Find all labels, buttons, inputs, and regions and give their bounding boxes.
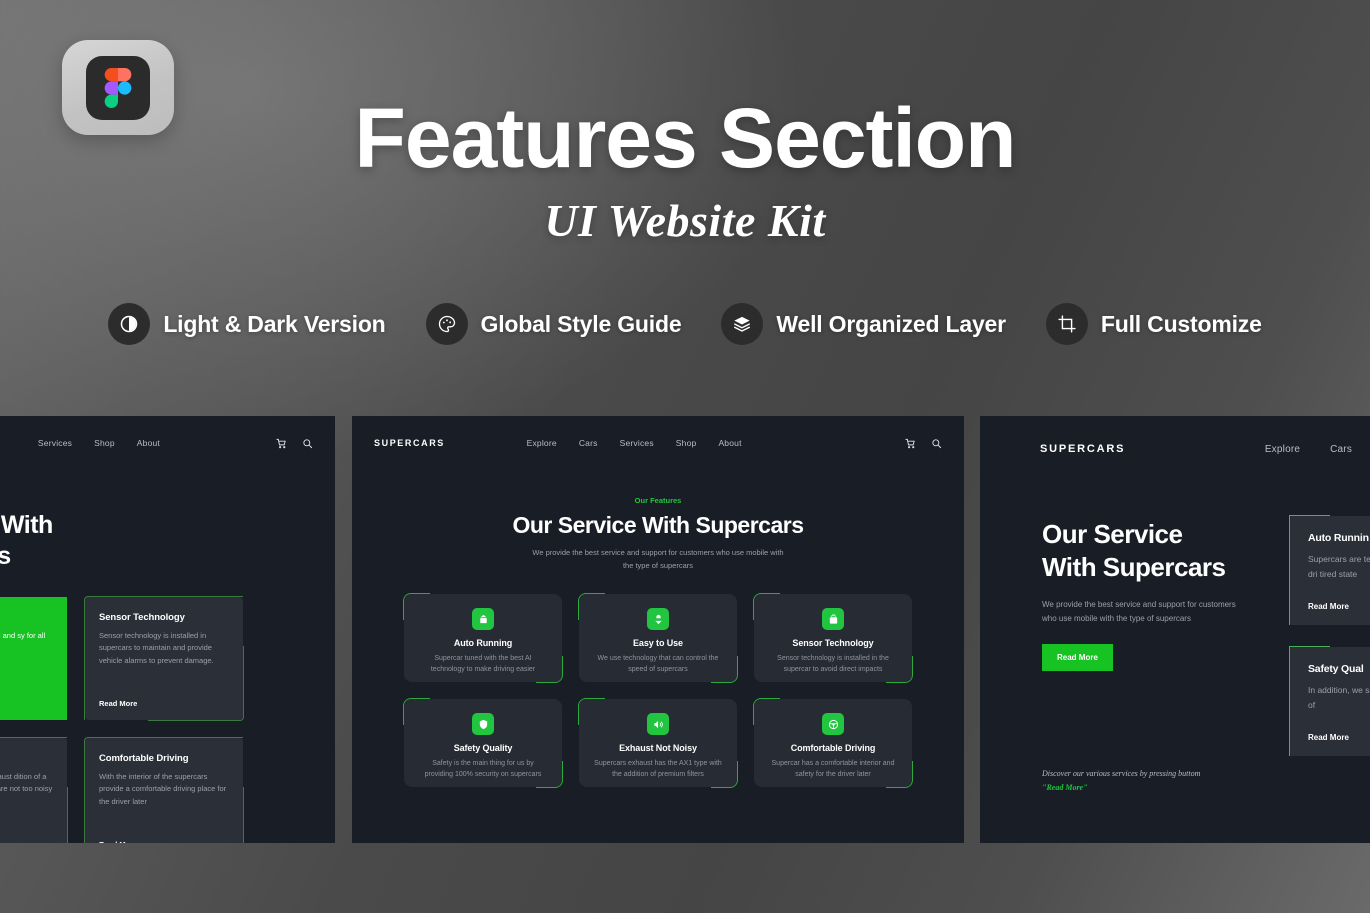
shopping-cart-glyph <box>276 438 287 449</box>
nav-link-services[interactable]: Services <box>38 438 72 448</box>
nav-link-shop[interactable]: Shop <box>676 438 697 448</box>
preview-panels: SUPERCARS Services Shop About <box>0 416 1370 843</box>
color-palette-glyph <box>437 314 457 334</box>
center-panel-navbar: SUPERCARS Explore Cars Services Shop Abo… <box>352 424 964 462</box>
right-panel-cards: Auto Runnin Supercars are technology to … <box>1290 516 1370 778</box>
feature-card-exhaust-not-noisy[interactable]: Exhaust Not Noisy Supercars exhaust has … <box>579 699 737 787</box>
feature-badge-layers: Well Organized Layer <box>721 303 1005 345</box>
left-panel-navbar: SUPERCARS Services Shop About <box>0 424 335 462</box>
search-glyph <box>931 438 942 449</box>
card-title: Not Noisy <box>0 753 53 764</box>
read-more-link[interactable]: Read More <box>1308 602 1370 611</box>
note-line-1: Discover our various services by pressin… <box>1042 769 1200 778</box>
section-title: Our Service With Supercars <box>352 512 964 539</box>
feature-badges-row: Light & Dark Version Global Style Guide <box>0 303 1370 345</box>
card-title: Comfortable Driving <box>768 743 898 753</box>
page-title: Features Section <box>0 96 1370 180</box>
nav-link-about[interactable]: About <box>137 438 160 448</box>
nav-links: Services Shop About <box>38 438 160 448</box>
preview-panel-left: SUPERCARS Services Shop About <box>0 416 335 843</box>
nav-link-about[interactable]: About <box>718 438 741 448</box>
read-more-button[interactable]: Read More <box>1042 644 1113 671</box>
card-title: Exhaust Not Noisy <box>593 743 723 753</box>
card-title: Comfortable Driving <box>99 753 229 764</box>
left-feature-card[interactable]: Sensor Technology Sensor technology is i… <box>85 597 243 720</box>
left-feature-card[interactable]: Comfortable Driving With the interior of… <box>85 738 243 843</box>
nav-actions <box>276 438 313 449</box>
search-icon[interactable] <box>302 438 313 449</box>
crop-tool-icon <box>1046 303 1088 345</box>
easy-to-use-icon <box>647 608 669 630</box>
card-title: Safety Quality <box>418 743 548 753</box>
right-panel-navbar: SUPERCARS Explore Cars Services <box>980 430 1370 468</box>
feature-badge-customize: Full Customize <box>1046 303 1262 345</box>
section-description: We provide the best service and support … <box>528 546 788 572</box>
contrast-circle-glyph <box>119 314 139 334</box>
left-feature-card[interactable]: Not Noisy talled an AX1 type exhaust dit… <box>0 738 67 843</box>
page-subtitle: UI Website Kit <box>0 194 1370 247</box>
auto-running-icon <box>472 608 494 630</box>
right-panel-description: We provide the best service and support … <box>1042 598 1242 628</box>
read-more-link[interactable]: Read More <box>99 840 229 843</box>
color-palette-icon <box>426 303 468 345</box>
brand-logo: SUPERCARS <box>374 438 445 448</box>
shield-icon <box>472 713 494 735</box>
shopping-cart-icon[interactable] <box>905 438 916 449</box>
card-description: We use technology that can control the s… <box>593 653 723 675</box>
feature-badge-label: Global Style Guide <box>481 311 682 338</box>
card-title: Sensor Technology <box>99 612 229 623</box>
card-title: Safety Qual <box>1308 663 1370 675</box>
feature-card-auto-running[interactable]: Auto Running Supercar tuned with the bes… <box>404 594 562 682</box>
card-title: Auto Runnin <box>1308 532 1370 544</box>
nav-link-explore[interactable]: Explore <box>1265 444 1300 455</box>
card-description: Supercar tuned with the best AI technolo… <box>418 653 548 675</box>
card-title: Auto Running <box>418 638 548 648</box>
brand-logo: SUPERCARS <box>1040 443 1125 455</box>
card-description: With the interior of the supercars provi… <box>99 771 229 808</box>
shopping-cart-icon[interactable] <box>276 438 287 449</box>
hero-section: Features Section UI Website Kit Light & … <box>0 0 1370 412</box>
card-description: Sensor technology is installed in the su… <box>768 653 898 675</box>
card-title: Easy to Use <box>593 638 723 648</box>
shopping-cart-glyph <box>905 438 916 449</box>
feature-badge-light-dark: Light & Dark Version <box>108 303 385 345</box>
card-description: Supercars are technology to users when d… <box>1308 552 1370 582</box>
left-panel-card-grid: Use e a self-adjusted speed and sy for a… <box>0 597 335 843</box>
card-description: Sensor technology is installed in superc… <box>99 630 229 667</box>
card-description: Safety is the main thing for us by provi… <box>418 758 548 780</box>
feature-card-easy-to-use[interactable]: Easy to Use We use technology that can c… <box>579 594 737 682</box>
preview-panel-center: SUPERCARS Explore Cars Services Shop Abo… <box>352 416 964 843</box>
steering-wheel-glyph <box>828 719 839 730</box>
nav-actions <box>905 438 942 449</box>
nav-link-cars[interactable]: Cars <box>579 438 598 448</box>
left-heading-line-1: Service With <box>0 510 313 541</box>
feature-badge-label: Light & Dark Version <box>163 311 385 338</box>
speaker-glyph <box>653 719 664 730</box>
right-panel-note: Discover our various services by pressin… <box>1042 767 1200 797</box>
card-description: Supercars exhaust has the AX1 type with … <box>593 758 723 780</box>
left-heading-line-2: upercars <box>0 541 313 572</box>
nav-link-services[interactable]: Services <box>620 438 654 448</box>
contrast-circle-icon <box>108 303 150 345</box>
sensor-glyph <box>828 614 839 625</box>
speaker-icon <box>647 713 669 735</box>
right-feature-card-auto-running[interactable]: Auto Runnin Supercars are technology to … <box>1290 516 1370 625</box>
card-title: Sensor Technology <box>768 638 898 648</box>
auto-running-glyph <box>478 614 489 625</box>
layers-stack-glyph <box>732 314 752 334</box>
read-more-link[interactable]: Read More <box>1308 733 1370 742</box>
card-description: talled an AX1 type exhaust dition of a p… <box>0 771 53 796</box>
nav-links: Explore Cars Services <box>1265 444 1370 455</box>
section-eyebrow: Our Features <box>352 496 964 505</box>
feature-badge-label: Full Customize <box>1101 311 1262 338</box>
right-feature-card-safety-quality[interactable]: Safety Qual In addition, we safety by of… <box>1290 647 1370 756</box>
center-panel-card-grid: Auto Running Supercar tuned with the bes… <box>352 594 964 787</box>
layers-stack-icon <box>721 303 763 345</box>
nav-links: Explore Cars Services Shop About <box>527 438 742 448</box>
card-description: Supercar has a comfortable interior and … <box>768 758 898 780</box>
crop-tool-glyph <box>1057 314 1077 334</box>
feature-card-comfortable-driving[interactable]: Comfortable Driving Supercar has a comfo… <box>754 699 912 787</box>
shield-glyph <box>478 719 489 730</box>
steering-wheel-icon <box>822 713 844 735</box>
read-more-link[interactable]: Read More <box>99 699 229 708</box>
feature-badge-style-guide: Global Style Guide <box>426 303 682 345</box>
feature-badge-label: Well Organized Layer <box>776 311 1005 338</box>
feature-card-sensor-technology[interactable]: Sensor Technology Sensor technology is i… <box>754 594 912 682</box>
nav-link-shop[interactable]: Shop <box>94 438 115 448</box>
card-description: e a self-adjusted speed and sy for all o… <box>0 630 53 655</box>
left-feature-card[interactable]: Use e a self-adjusted speed and sy for a… <box>0 597 67 720</box>
nav-link-explore[interactable]: Explore <box>527 438 557 448</box>
card-description: In addition, we safety by offer in the e… <box>1308 683 1370 713</box>
left-panel-heading: Service With upercars <box>0 510 335 571</box>
sensor-icon <box>822 608 844 630</box>
feature-card-safety-quality[interactable]: Safety Quality Safety is the main thing … <box>404 699 562 787</box>
search-glyph <box>302 438 313 449</box>
preview-panel-right: SUPERCARS Explore Cars Services Our Serv… <box>980 416 1370 843</box>
nav-link-cars[interactable]: Cars <box>1330 444 1352 455</box>
note-line-2: "Read More" <box>1042 781 1200 796</box>
easy-to-use-glyph <box>653 614 664 625</box>
card-title: Use <box>0 612 53 623</box>
search-icon[interactable] <box>931 438 942 449</box>
